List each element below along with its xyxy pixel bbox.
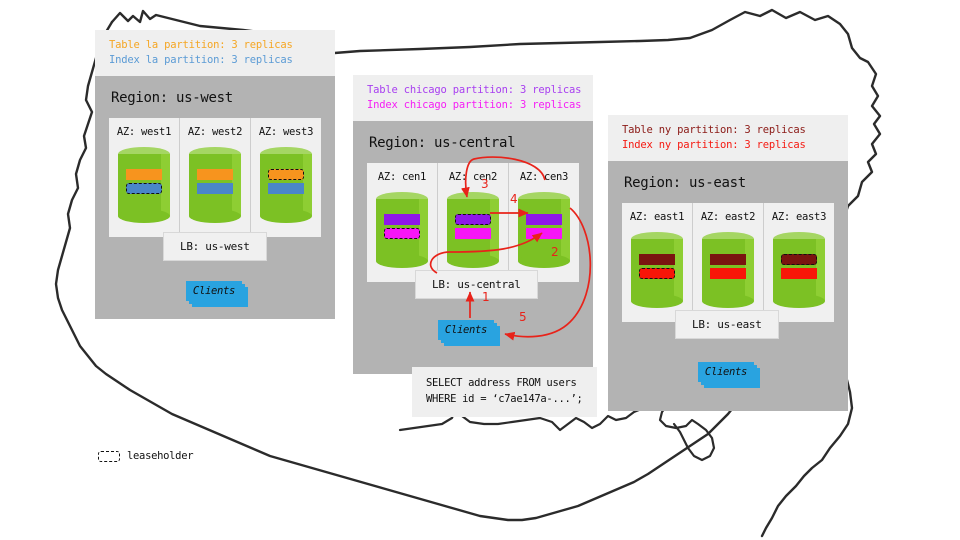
cylinder-sheen — [674, 239, 683, 301]
cylinder-bottom — [702, 294, 754, 308]
cylinder-sheen — [745, 239, 754, 301]
us-central-index-partition-label: Index chicago partition: 3 replicas — [367, 98, 581, 113]
clients-us-east[interactable]: Clients — [698, 362, 760, 388]
arrow-label-5: 5 — [519, 310, 527, 324]
arrow-label-4: 4 — [510, 192, 518, 206]
cylinder-sheen — [816, 239, 825, 301]
table-replica-bar-leaseholder — [268, 169, 304, 180]
node-west3[interactable] — [260, 147, 312, 223]
us-west-table-partition-label: Table la partition: 3 replicas — [109, 38, 323, 53]
lb-us-east[interactable]: LB: us-east — [675, 310, 779, 339]
lb-us-central[interactable]: LB: us-central — [415, 270, 538, 299]
az-west2[interactable]: AZ: west2 — [180, 118, 251, 237]
az-cen1[interactable]: AZ: cen1 — [367, 163, 438, 282]
index-replica-bar-leaseholder — [639, 268, 675, 279]
index-replica-bar — [455, 228, 491, 239]
cylinder-sheen — [303, 154, 312, 216]
az-east2-label: AZ: east2 — [701, 211, 755, 223]
region-us-west-title: Region: us-west — [111, 90, 321, 106]
region-us-east-az-row: AZ: east1 AZ: east2 — [622, 203, 834, 322]
table-replica-bar — [710, 254, 746, 265]
cylinder-bottom — [773, 294, 825, 308]
az-cen2-label: AZ: cen2 — [449, 171, 497, 183]
az-west3[interactable]: AZ: west3 — [251, 118, 321, 237]
clients-label: Clients — [698, 362, 754, 382]
index-replica-bar — [268, 183, 304, 194]
cylinder-sheen — [561, 199, 570, 261]
clients-us-west[interactable]: Clients — [186, 281, 248, 307]
clients-label: Clients — [186, 281, 242, 301]
legend-label: leaseholder — [127, 450, 193, 462]
lb-us-west[interactable]: LB: us-west — [163, 232, 267, 261]
index-replica-bar — [526, 228, 562, 239]
index-replica-bar — [781, 268, 817, 279]
arrow-label-1: 1 — [482, 290, 490, 304]
region-us-west-header: Table la partition: 3 replicas Index la … — [95, 30, 335, 76]
node-cen3[interactable] — [518, 192, 570, 268]
cylinder-bottom — [260, 209, 312, 223]
cylinder-sheen — [161, 154, 170, 216]
cylinder-sheen — [419, 199, 428, 261]
region-us-west: Table la partition: 3 replicas Index la … — [95, 30, 335, 319]
clients-us-central[interactable]: Clients — [438, 320, 500, 346]
az-cen1-label: AZ: cen1 — [378, 171, 426, 183]
az-cen3-label: AZ: cen3 — [520, 171, 568, 183]
legend-leaseholder: leaseholder — [98, 450, 193, 462]
cylinder-bottom — [631, 294, 683, 308]
index-replica-bar-leaseholder — [126, 183, 162, 194]
node-east1[interactable] — [631, 232, 683, 308]
region-us-east-title: Region: us-east — [624, 175, 834, 191]
cylinder-bottom — [376, 254, 428, 268]
arrow-label-2: 2 — [551, 245, 559, 259]
table-replica-bar-leaseholder — [455, 214, 491, 225]
diagram-canvas: Table la partition: 3 replicas Index la … — [0, 0, 960, 540]
table-replica-bar — [126, 169, 162, 180]
az-east3[interactable]: AZ: east3 — [764, 203, 834, 322]
sql-query-box: SELECT address FROM users WHERE id = ‘c7… — [412, 367, 597, 417]
az-cen2[interactable]: AZ: cen2 — [438, 163, 509, 282]
az-west1-label: AZ: west1 — [117, 126, 171, 138]
us-central-table-partition-label: Table chicago partition: 3 replicas — [367, 83, 581, 98]
node-east2[interactable] — [702, 232, 754, 308]
index-replica-bar — [710, 268, 746, 279]
cylinder-bottom — [118, 209, 170, 223]
us-east-index-partition-label: Index ny partition: 3 replicas — [622, 138, 836, 153]
cylinder-sheen — [490, 199, 499, 261]
arrow-label-3: 3 — [481, 177, 489, 191]
index-replica-bar-leaseholder — [384, 228, 420, 239]
region-us-east-header: Table ny partition: 3 replicas Index ny … — [608, 115, 848, 161]
node-cen1[interactable] — [376, 192, 428, 268]
az-east2[interactable]: AZ: east2 — [693, 203, 764, 322]
clients-label: Clients — [438, 320, 494, 340]
az-west2-label: AZ: west2 — [188, 126, 242, 138]
node-cen2[interactable] — [447, 192, 499, 268]
cylinder-bottom — [447, 254, 499, 268]
us-west-index-partition-label: Index la partition: 3 replicas — [109, 53, 323, 68]
table-replica-bar — [526, 214, 562, 225]
us-east-table-partition-label: Table ny partition: 3 replicas — [622, 123, 836, 138]
table-replica-bar-leaseholder — [781, 254, 817, 265]
az-east1-label: AZ: east1 — [630, 211, 684, 223]
region-us-central-title: Region: us-central — [369, 135, 579, 151]
az-east1[interactable]: AZ: east1 — [622, 203, 693, 322]
node-east3[interactable] — [773, 232, 825, 308]
node-west2[interactable] — [189, 147, 241, 223]
az-west3-label: AZ: west3 — [259, 126, 313, 138]
az-west1[interactable]: AZ: west1 — [109, 118, 180, 237]
table-replica-bar — [197, 169, 233, 180]
cylinder-sheen — [232, 154, 241, 216]
node-west1[interactable] — [118, 147, 170, 223]
leaseholder-swatch-icon — [98, 451, 120, 462]
region-us-central-header: Table chicago partition: 3 replicas Inde… — [353, 75, 593, 121]
az-cen3[interactable]: AZ: cen3 — [509, 163, 579, 282]
region-us-central-az-row: AZ: cen1 AZ: cen2 — [367, 163, 579, 282]
az-east3-label: AZ: east3 — [772, 211, 826, 223]
cylinder-bottom — [189, 209, 241, 223]
cylinder-bottom — [518, 254, 570, 268]
table-replica-bar — [639, 254, 675, 265]
table-replica-bar — [384, 214, 420, 225]
index-replica-bar — [197, 183, 233, 194]
region-us-west-az-row: AZ: west1 AZ: west2 — [109, 118, 321, 237]
